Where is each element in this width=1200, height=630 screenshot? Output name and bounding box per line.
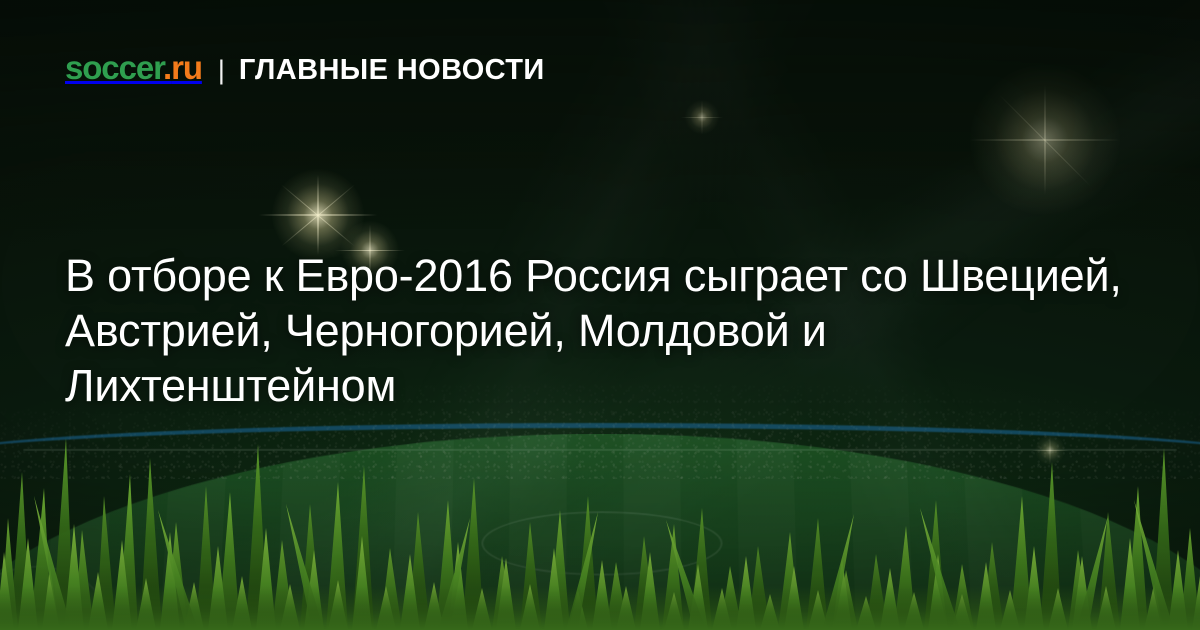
share-card: soccer.ru | ГЛАВНЫЕ НОВОСТИ В отборе к Е… [0,0,1200,630]
header-divider: | [218,57,225,84]
section-label: ГЛАВНЫЕ НОВОСТИ [239,56,545,85]
site-header: soccer.ru | ГЛАВНЫЕ НОВОСТИ [65,51,545,85]
article-headline: В отборе к Евро-2016 Россия сыграет со Ш… [65,248,1150,413]
logo-tld-text: ru [171,49,202,86]
logo-brand-text: soccer [65,49,163,86]
logo-dot: . [163,49,171,86]
bottom-vignette [0,430,1200,630]
site-logo[interactable]: soccer.ru [65,51,202,84]
